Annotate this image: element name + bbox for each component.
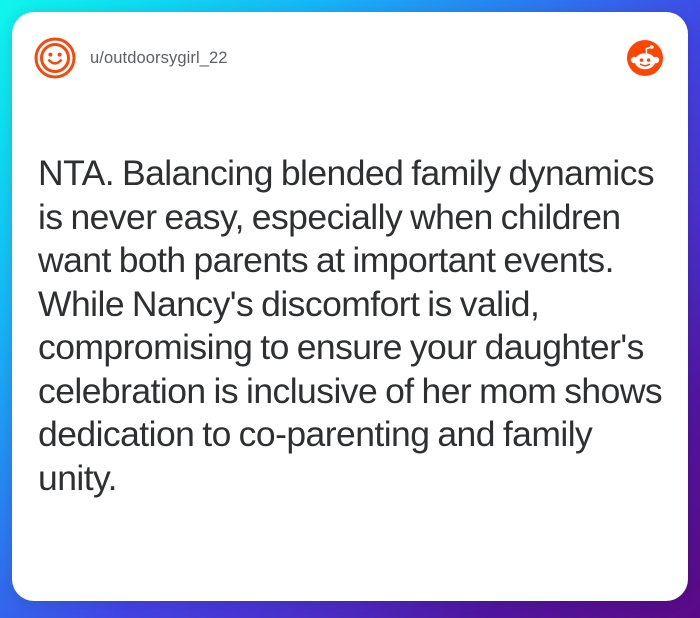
username-label: u/outdoorsygirl_22: [90, 49, 228, 68]
reddit-snoo-icon[interactable]: [626, 39, 664, 77]
post-header: u/outdoorsygirl_22: [12, 12, 688, 104]
post-body: NTA. Balancing blended family dynamics i…: [12, 152, 688, 500]
gradient-background: u/outdoorsygirl_22 NTA. Ba: [0, 0, 700, 618]
smiley-face-icon[interactable]: [34, 37, 76, 79]
post-text: NTA. Balancing blended family dynamics i…: [38, 152, 664, 500]
reddit-post-card: u/outdoorsygirl_22 NTA. Ba: [12, 12, 688, 601]
